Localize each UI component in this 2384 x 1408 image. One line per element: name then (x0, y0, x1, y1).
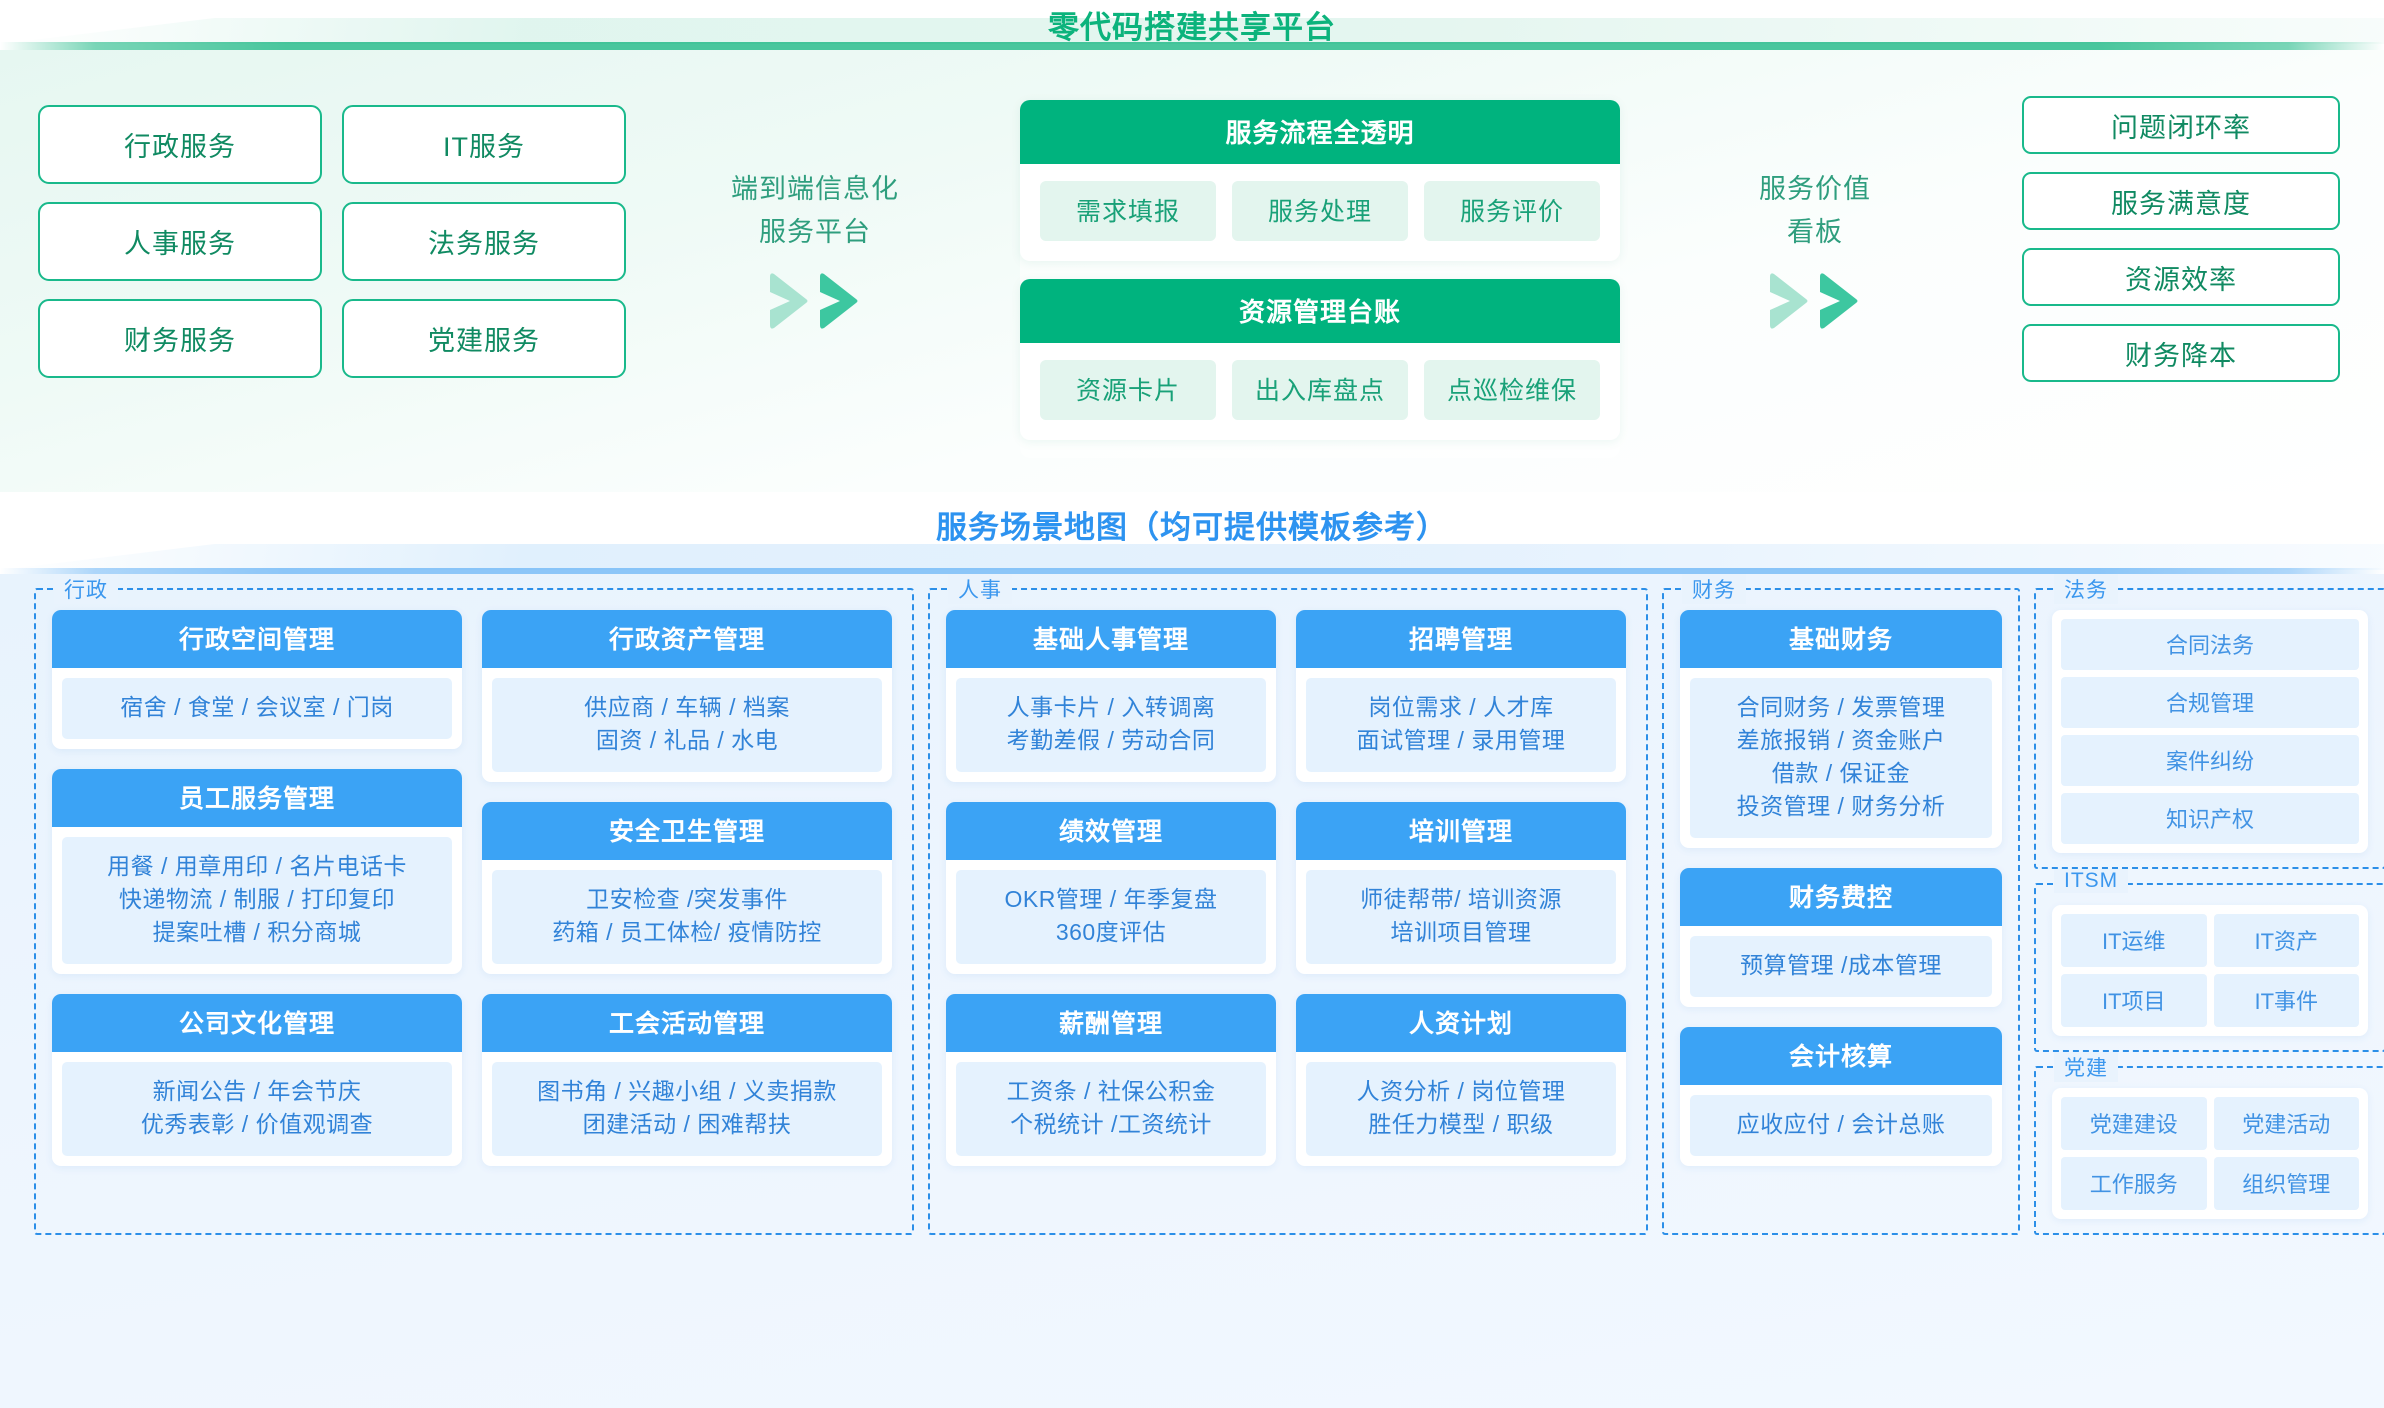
chip-service-handle[interactable]: 服务处理 (1232, 181, 1408, 241)
module-training[interactable]: 培训管理 师徒帮带/ 培训资源培训项目管理 (1296, 802, 1626, 974)
itsm-item-assets[interactable]: IT资产 (2214, 914, 2360, 967)
legal-item-contract[interactable]: 合同法务 (2061, 619, 2359, 670)
group-hr-label: 人事 (948, 574, 1012, 604)
module-header: 招聘管理 (1296, 610, 1626, 668)
module-items: 卫安检查 /突发事件药箱 / 员工体检/ 疫情防控 (492, 870, 882, 964)
group-itsm: ITSM IT运维 IT资产 IT项目 IT事件 (2034, 883, 2384, 1052)
arrow2-label-line1: 服务价值 (1700, 168, 1930, 211)
module-safety-health[interactable]: 安全卫生管理 卫安检查 /突发事件药箱 / 员工体检/ 疫情防控 (482, 802, 892, 974)
module-body: 用餐 / 用章用印 / 名片电话卡快递物流 / 制服 / 打印复印提案吐槽 / … (52, 827, 462, 974)
group-legal: 法务 合同法务 合规管理 案件纠纷 知识产权 (2034, 588, 2384, 869)
party-item-activity[interactable]: 党建活动 (2214, 1097, 2360, 1150)
module-admin-assets[interactable]: 行政资产管理 供应商 / 车辆 / 档案固资 / 礼品 / 水电 (482, 610, 892, 782)
module-header: 基础人事管理 (946, 610, 1276, 668)
arrow-group-value-board: 服务价值 看板 (1700, 168, 1930, 332)
itsm-card: IT运维 IT资产 IT项目 IT事件 (2052, 905, 2368, 1036)
chip-inspection-upkeep[interactable]: 点巡检维保 (1424, 360, 1600, 420)
module-header: 培训管理 (1296, 802, 1626, 860)
module-basic-finance[interactable]: 基础财务 合同财务 / 发票管理差旅报销 / 资金账户借款 / 保证金投资管理 … (1680, 610, 2002, 848)
module-header: 员工服务管理 (52, 769, 462, 827)
group-admin-col1: 行政空间管理 宿舍 / 食堂 / 会议室 / 门岗 员工服务管理 用餐 / 用章… (52, 610, 462, 1166)
chip-service-rating[interactable]: 服务评价 (1424, 181, 1600, 241)
chip-inventory-count[interactable]: 出入库盘点 (1232, 360, 1408, 420)
group-legal-label: 法务 (2054, 574, 2118, 604)
top-title: 零代码搭建共享平台 (0, 2, 2384, 47)
module-body: 岗位需求 / 人才库面试管理 / 录用管理 (1296, 668, 1626, 782)
legal-item-compliance[interactable]: 合规管理 (2061, 677, 2359, 728)
center-card-process-header: 服务流程全透明 (1020, 100, 1620, 164)
group-stack-right: 法务 合同法务 合规管理 案件纠纷 知识产权 ITSM IT运维 (2034, 588, 2384, 1235)
module-union-activity[interactable]: 工会活动管理 图书角 / 兴趣小组 / 义卖捐款团建活动 / 困难帮扶 (482, 994, 892, 1166)
module-items: 新闻公告 / 年会节庆优秀表彰 / 价值观调查 (62, 1062, 452, 1156)
group-admin-label: 行政 (54, 574, 118, 604)
center-card-resource: 资源管理台账 资源卡片 出入库盘点 点巡检维保 (1020, 279, 1620, 440)
chip-demand-report[interactable]: 需求填报 (1040, 181, 1216, 241)
group-itsm-label: ITSM (2054, 869, 2128, 893)
module-body: OKR管理 / 年季复盘360度评估 (946, 860, 1276, 974)
module-header: 会计核算 (1680, 1027, 2002, 1085)
party-card: 党建建设 党建活动 工作服务 组织管理 (2052, 1088, 2368, 1219)
group-hr-col1: 基础人事管理 人事卡片 / 入转调离考勤差假 / 劳动合同 绩效管理 OKR管理… (946, 610, 1276, 1166)
itsm-item-ops[interactable]: IT运维 (2061, 914, 2207, 967)
module-expense-control[interactable]: 财务费控 预算管理 /成本管理 (1680, 868, 2002, 1007)
kpi-column: 问题闭环率 服务满意度 资源效率 财务降本 (2022, 96, 2340, 400)
module-body: 合同财务 / 发票管理差旅报销 / 资金账户借款 / 保证金投资管理 / 财务分… (1680, 668, 2002, 848)
party-item-work-service[interactable]: 工作服务 (2061, 1157, 2207, 1210)
module-items: 合同财务 / 发票管理差旅报销 / 资金账户借款 / 保证金投资管理 / 财务分… (1690, 678, 1992, 838)
arrow-label-line1: 端到端信息化 (700, 168, 930, 211)
service-box-admin[interactable]: 行政服务 (38, 105, 322, 184)
module-items: 宿舍 / 食堂 / 会议室 / 门岗 (62, 678, 452, 739)
kpi-resource-efficiency[interactable]: 资源效率 (2022, 248, 2340, 306)
itsm-grid: IT运维 IT资产 IT项目 IT事件 (2061, 914, 2359, 1027)
group-admin-columns: 行政空间管理 宿舍 / 食堂 / 会议室 / 门岗 员工服务管理 用餐 / 用章… (52, 610, 896, 1166)
arrow-group-platform: 端到端信息化 服务平台 (700, 168, 930, 332)
module-body: 师徒帮带/ 培训资源培训项目管理 (1296, 860, 1626, 974)
module-items: 人事卡片 / 入转调离考勤差假 / 劳动合同 (956, 678, 1266, 772)
double-chevron-right-icon-2 (1700, 270, 1930, 332)
infographic-page: 零代码搭建共享平台 行政服务 IT服务 人事服务 法务服务 财务服务 党建服务 … (0, 0, 2384, 1408)
module-header: 工会活动管理 (482, 994, 892, 1052)
module-items: 师徒帮带/ 培训资源培训项目管理 (1306, 870, 1616, 964)
bottom-perspective-fill (0, 544, 2384, 570)
service-grid: 行政服务 IT服务 人事服务 法务服务 财务服务 党建服务 (38, 105, 626, 378)
group-admin: 行政 行政空间管理 宿舍 / 食堂 / 会议室 / 门岗 员工服务管理 (34, 588, 914, 1235)
module-items: OKR管理 / 年季复盘360度评估 (956, 870, 1266, 964)
module-body: 新闻公告 / 年会节庆优秀表彰 / 价值观调查 (52, 1052, 462, 1166)
bottom-section: 服务场景地图（均可提供模板参考） 行政 行政空间管理 宿舍 / 食堂 / 会议室… (0, 492, 2384, 1408)
center-panel: 服务流程全透明 需求填报 服务处理 服务评价 资源管理台账 资源卡片 出入库盘点… (1020, 100, 1620, 458)
module-header: 行政空间管理 (52, 610, 462, 668)
arrow2-label-line2: 看板 (1700, 211, 1930, 254)
kpi-service-satisfaction[interactable]: 服务满意度 (2022, 172, 2340, 230)
module-items: 岗位需求 / 人才库面试管理 / 录用管理 (1306, 678, 1616, 772)
scene-map-row: 行政 行政空间管理 宿舍 / 食堂 / 会议室 / 门岗 员工服务管理 (34, 588, 2384, 1235)
group-hr-columns: 基础人事管理 人事卡片 / 入转调离考勤差假 / 劳动合同 绩效管理 OKR管理… (946, 610, 1630, 1166)
module-header: 基础财务 (1680, 610, 2002, 668)
itsm-item-incident[interactable]: IT事件 (2214, 974, 2360, 1027)
module-header: 行政资产管理 (482, 610, 892, 668)
service-box-it[interactable]: IT服务 (342, 105, 626, 184)
module-items: 图书角 / 兴趣小组 / 义卖捐款团建活动 / 困难帮扶 (492, 1062, 882, 1156)
legal-item-dispute[interactable]: 案件纠纷 (2061, 735, 2359, 786)
module-header: 财务费控 (1680, 868, 2002, 926)
group-hr-col2: 招聘管理 岗位需求 / 人才库面试管理 / 录用管理 培训管理 师徒帮带/ 培训… (1296, 610, 1626, 1166)
service-box-hr[interactable]: 人事服务 (38, 202, 322, 281)
module-body: 供应商 / 车辆 / 档案固资 / 礼品 / 水电 (482, 668, 892, 782)
module-admin-space[interactable]: 行政空间管理 宿舍 / 食堂 / 会议室 / 门岗 (52, 610, 462, 749)
module-body: 卫安检查 /突发事件药箱 / 员工体检/ 疫情防控 (482, 860, 892, 974)
chip-resource-card[interactable]: 资源卡片 (1040, 360, 1216, 420)
group-admin-col2: 行政资产管理 供应商 / 车辆 / 档案固资 / 礼品 / 水电 安全卫生管理 … (482, 610, 892, 1166)
group-party: 党建 党建建设 党建活动 工作服务 组织管理 (2034, 1066, 2384, 1235)
module-recruiting[interactable]: 招聘管理 岗位需求 / 人才库面试管理 / 录用管理 (1296, 610, 1626, 782)
module-items: 用餐 / 用章用印 / 名片电话卡快递物流 / 制服 / 打印复印提案吐槽 / … (62, 837, 452, 964)
party-item-construction[interactable]: 党建建设 (2061, 1097, 2207, 1150)
module-body: 图书角 / 兴趣小组 / 义卖捐款团建活动 / 困难帮扶 (482, 1052, 892, 1166)
service-box-party[interactable]: 党建服务 (342, 299, 626, 378)
module-body: 工资条 / 社保公积金个税统计 /工资统计 (946, 1052, 1276, 1166)
module-body: 预算管理 /成本管理 (1680, 926, 2002, 1007)
service-box-legal[interactable]: 法务服务 (342, 202, 626, 281)
center-card-process: 服务流程全透明 需求填报 服务处理 服务评价 (1020, 100, 1620, 261)
group-hr: 人事 基础人事管理 人事卡片 / 入转调离考勤差假 / 劳动合同 绩效管理 (928, 588, 1648, 1235)
group-finance-modules: 基础财务 合同财务 / 发票管理差旅报销 / 资金账户借款 / 保证金投资管理 … (1680, 610, 2002, 1166)
bottom-title: 服务场景地图（均可提供模板参考） (0, 502, 2384, 547)
party-item-org-mgmt[interactable]: 组织管理 (2214, 1157, 2360, 1210)
module-items: 人资分析 / 岗位管理胜任力模型 / 职级 (1306, 1062, 1616, 1156)
module-header: 安全卫生管理 (482, 802, 892, 860)
module-items: 应收应付 / 会计总账 (1690, 1095, 1992, 1156)
service-box-finance[interactable]: 财务服务 (38, 299, 322, 378)
module-items: 供应商 / 车辆 / 档案固资 / 礼品 / 水电 (492, 678, 882, 772)
itsm-item-project[interactable]: IT项目 (2061, 974, 2207, 1027)
module-header: 公司文化管理 (52, 994, 462, 1052)
group-finance-label: 财务 (1682, 574, 1746, 604)
kpi-issue-closure[interactable]: 问题闭环率 (2022, 96, 2340, 154)
center-card-resource-header: 资源管理台账 (1020, 279, 1620, 343)
module-basic-hr[interactable]: 基础人事管理 人事卡片 / 入转调离考勤差假 / 劳动合同 (946, 610, 1276, 782)
group-party-label: 党建 (2054, 1052, 2118, 1082)
legal-item-ip[interactable]: 知识产权 (2061, 793, 2359, 844)
module-performance[interactable]: 绩效管理 OKR管理 / 年季复盘360度评估 (946, 802, 1276, 974)
module-body: 人资分析 / 岗位管理胜任力模型 / 职级 (1296, 1052, 1626, 1166)
center-card-resource-chips: 资源卡片 出入库盘点 点巡检维保 (1020, 343, 1620, 440)
arrow-label-line2: 服务平台 (700, 211, 930, 254)
module-body: 人事卡片 / 入转调离考勤差假 / 劳动合同 (946, 668, 1276, 782)
party-grid: 党建建设 党建活动 工作服务 组织管理 (2061, 1097, 2359, 1210)
module-header: 薪酬管理 (946, 994, 1276, 1052)
module-body: 应收应付 / 会计总账 (1680, 1085, 2002, 1166)
module-items: 工资条 / 社保公积金个税统计 /工资统计 (956, 1062, 1266, 1156)
center-card-process-chips: 需求填报 服务处理 服务评价 (1020, 164, 1620, 261)
double-chevron-right-icon (700, 270, 930, 332)
legal-card: 合同法务 合规管理 案件纠纷 知识产权 (2052, 610, 2368, 853)
module-company-culture[interactable]: 公司文化管理 新闻公告 / 年会节庆优秀表彰 / 价值观调查 (52, 994, 462, 1166)
module-employee-service[interactable]: 员工服务管理 用餐 / 用章用印 / 名片电话卡快递物流 / 制服 / 打印复印… (52, 769, 462, 974)
module-header: 人资计划 (1296, 994, 1626, 1052)
module-header: 绩效管理 (946, 802, 1276, 860)
module-body: 宿舍 / 食堂 / 会议室 / 门岗 (52, 668, 462, 749)
module-items: 预算管理 /成本管理 (1690, 936, 1992, 997)
module-accounting[interactable]: 会计核算 应收应付 / 会计总账 (1680, 1027, 2002, 1166)
group-finance: 财务 基础财务 合同财务 / 发票管理差旅报销 / 资金账户借款 / 保证金投资… (1662, 588, 2020, 1235)
module-hr-planning[interactable]: 人资计划 人资分析 / 岗位管理胜任力模型 / 职级 (1296, 994, 1626, 1166)
top-section: 零代码搭建共享平台 行政服务 IT服务 人事服务 法务服务 财务服务 党建服务 … (0, 0, 2384, 492)
module-compensation[interactable]: 薪酬管理 工资条 / 社保公积金个税统计 /工资统计 (946, 994, 1276, 1166)
kpi-cost-reduction[interactable]: 财务降本 (2022, 324, 2340, 382)
